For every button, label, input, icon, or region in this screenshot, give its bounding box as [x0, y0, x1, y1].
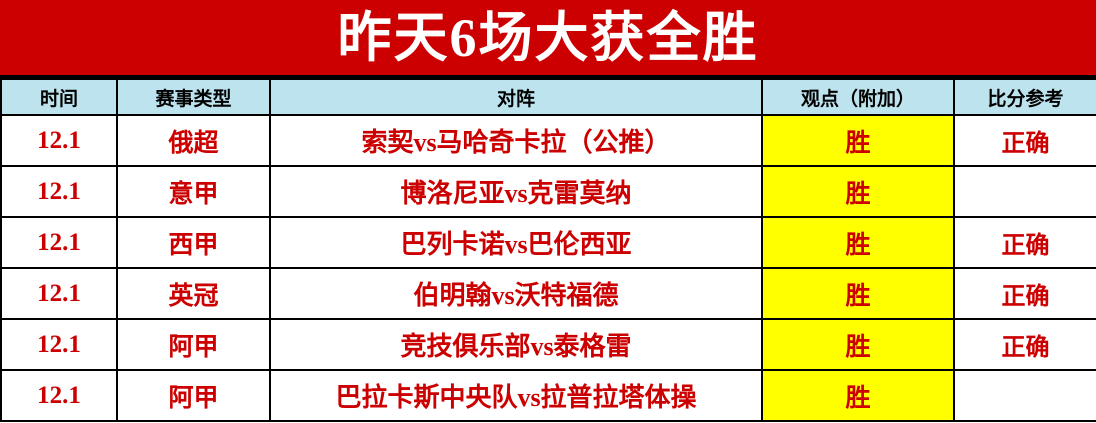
cell-type: 意甲 [117, 166, 270, 217]
cell-type: 阿甲 [117, 319, 270, 370]
cell-score: 正确 [954, 115, 1096, 166]
cell-view: 胜 [762, 217, 954, 268]
cell-view: 胜 [762, 115, 954, 166]
cell-type: 阿甲 [117, 370, 270, 421]
header-match: 对阵 [270, 79, 762, 115]
header-type: 赛事类型 [117, 79, 270, 115]
cell-score: 正确 [954, 217, 1096, 268]
header-view: 观点（附加） [762, 79, 954, 115]
cell-match: 巴拉卡斯中央队vs拉普拉塔体操 [270, 370, 762, 421]
cell-time: 12.1 [1, 268, 117, 319]
cell-match: 博洛尼亚vs克雷莫纳 [270, 166, 762, 217]
cell-time: 12.1 [1, 217, 117, 268]
banner-title: 昨天6场大获全胜 [338, 11, 759, 65]
table-body: 12.1 俄超 索契vs马哈奇卡拉（公推） 胜 正确 12.1 意甲 博洛尼亚v… [1, 115, 1096, 421]
cell-view: 胜 [762, 268, 954, 319]
table-row: 12.1 阿甲 竞技俱乐部vs泰格雷 胜 正确 [1, 319, 1096, 370]
cell-time: 12.1 [1, 370, 117, 421]
cell-time: 12.1 [1, 319, 117, 370]
table-row: 12.1 俄超 索契vs马哈奇卡拉（公推） 胜 正确 [1, 115, 1096, 166]
match-table: 时间 赛事类型 对阵 观点（附加） 比分参考 12.1 俄超 索契vs马哈奇卡拉… [0, 78, 1096, 422]
cell-match: 伯明翰vs沃特福德 [270, 268, 762, 319]
cell-score [954, 166, 1096, 217]
table-row: 12.1 英冠 伯明翰vs沃特福德 胜 正确 [1, 268, 1096, 319]
cell-time: 12.1 [1, 115, 117, 166]
cell-score: 正确 [954, 319, 1096, 370]
cell-match: 索契vs马哈奇卡拉（公推） [270, 115, 762, 166]
cell-time: 12.1 [1, 166, 117, 217]
table-header: 时间 赛事类型 对阵 观点（附加） 比分参考 [1, 79, 1096, 115]
cell-match: 竞技俱乐部vs泰格雷 [270, 319, 762, 370]
header-score: 比分参考 [954, 79, 1096, 115]
cell-type: 俄超 [117, 115, 270, 166]
cell-view: 胜 [762, 166, 954, 217]
banner: 昨天6场大获全胜 [0, 0, 1096, 78]
cell-match: 巴列卡诺vs巴伦西亚 [270, 217, 762, 268]
cell-score [954, 370, 1096, 421]
table-row: 12.1 阿甲 巴拉卡斯中央队vs拉普拉塔体操 胜 [1, 370, 1096, 421]
table-row: 12.1 意甲 博洛尼亚vs克雷莫纳 胜 [1, 166, 1096, 217]
header-time: 时间 [1, 79, 117, 115]
cell-view: 胜 [762, 319, 954, 370]
cell-type: 英冠 [117, 268, 270, 319]
page-root: 昨天6场大获全胜 时间 赛事类型 对阵 观点（附加） 比分参考 12.1 俄超 … [0, 0, 1096, 423]
cell-score: 正确 [954, 268, 1096, 319]
table-header-row: 时间 赛事类型 对阵 观点（附加） 比分参考 [1, 79, 1096, 115]
table-row: 12.1 西甲 巴列卡诺vs巴伦西亚 胜 正确 [1, 217, 1096, 268]
cell-view: 胜 [762, 370, 954, 421]
cell-type: 西甲 [117, 217, 270, 268]
